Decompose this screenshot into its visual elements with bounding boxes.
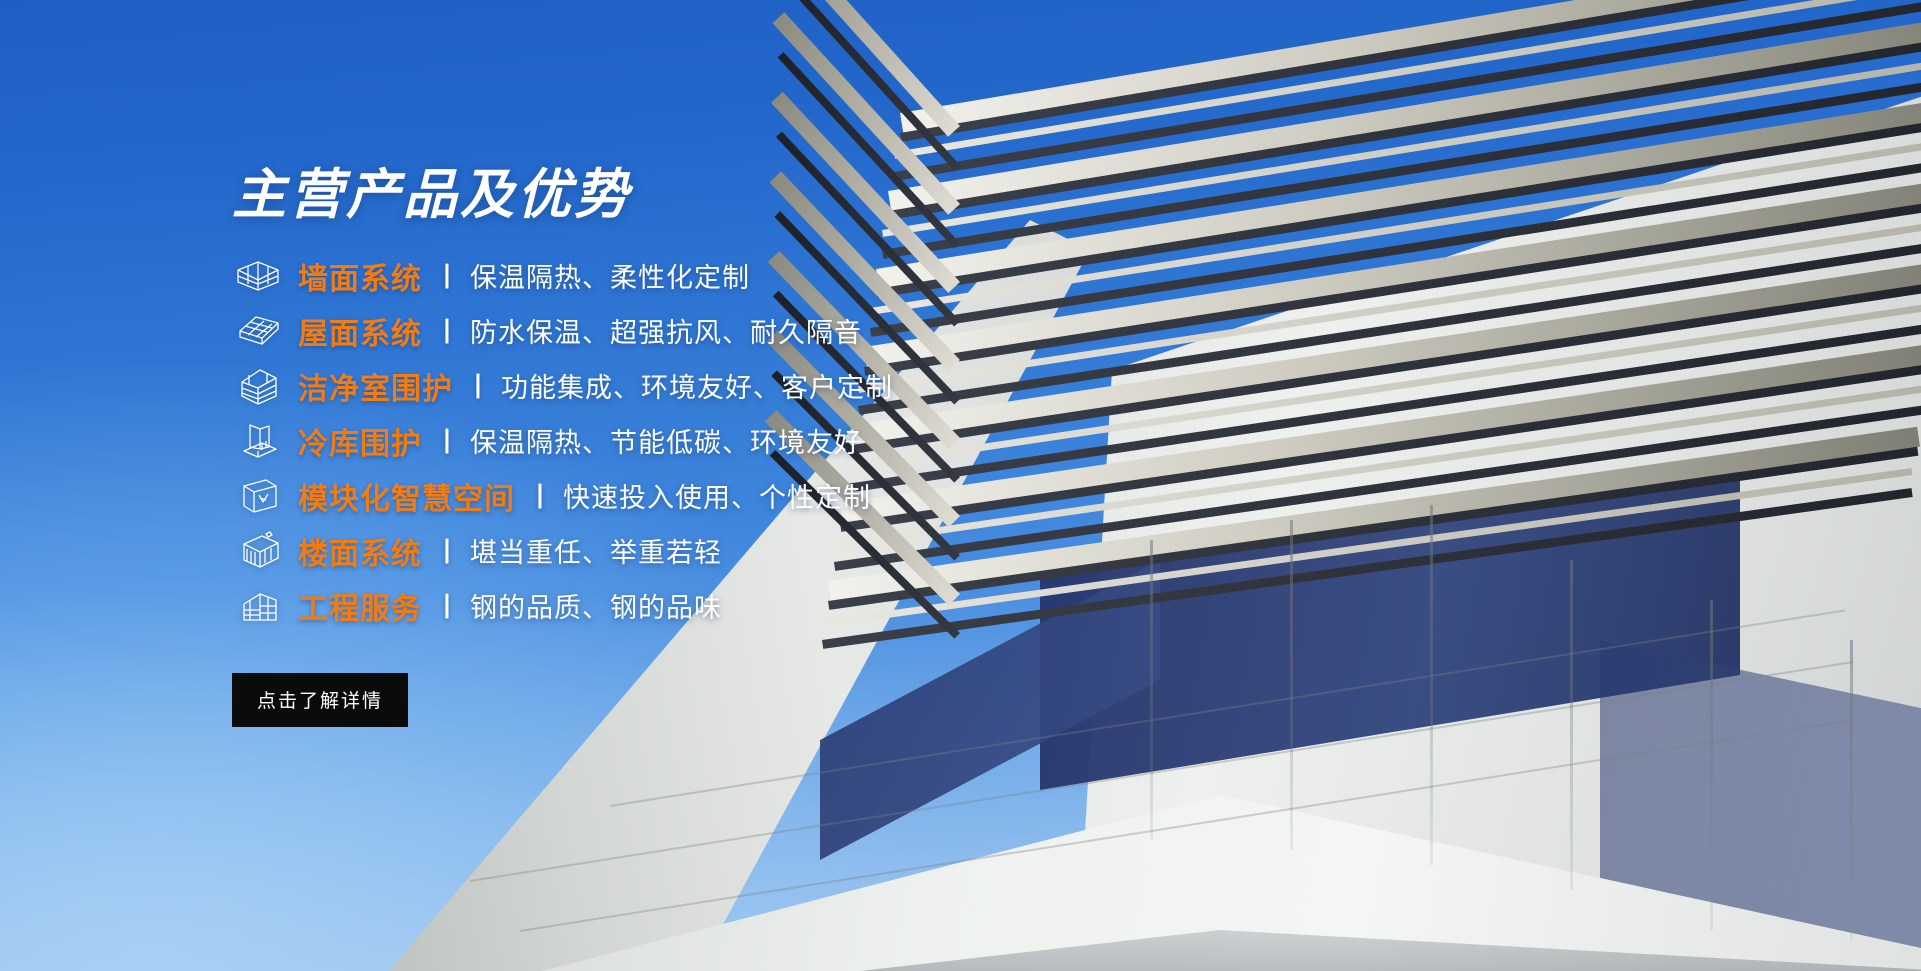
divider: 丨: [434, 257, 460, 294]
wall-panel-icon: [232, 256, 288, 296]
product-description: 钢的品质、钢的品味: [470, 586, 722, 625]
product-row[interactable]: 洁净室围护丨功能集成、环境友好、客户定制: [232, 358, 1100, 413]
product-list: 墙面系统丨保温隔热、柔性化定制屋面系统丨防水保温、超强抗风、耐久隔音洁净室围护丨…: [232, 248, 1100, 633]
product-name: 屋面系统: [298, 309, 422, 353]
product-name: 洁净室围护: [298, 364, 453, 408]
product-description: 堪当重任、举重若轻: [470, 531, 722, 570]
product-row[interactable]: 工程服务丨钢的品质、钢的品味: [232, 578, 1100, 633]
product-row[interactable]: 墙面系统丨保温隔热、柔性化定制: [232, 248, 1100, 303]
cleanroom-icon: [232, 366, 288, 406]
facade-mullion: [1150, 540, 1153, 840]
product-row[interactable]: 冷库围护丨保温隔热、节能低碳、环境友好: [232, 413, 1100, 468]
divider: 丨: [465, 367, 491, 404]
divider: 丨: [527, 477, 553, 514]
product-description: 防水保温、超强抗风、耐久隔音: [470, 311, 862, 350]
divider: 丨: [434, 312, 460, 349]
floor-deck-icon: [232, 531, 288, 571]
learn-more-button[interactable]: 点击了解详情: [232, 673, 408, 727]
product-description: 保温隔热、节能低碳、环境友好: [470, 421, 862, 460]
product-name: 工程服务: [298, 584, 422, 628]
divider: 丨: [434, 532, 460, 569]
product-row[interactable]: 屋面系统丨防水保温、超强抗风、耐久隔音: [232, 303, 1100, 358]
product-name: 模块化智慧空间: [298, 474, 515, 518]
cold-storage-icon: [232, 421, 288, 461]
banner-content: 主营产品及优势 墙面系统丨保温隔热、柔性化定制屋面系统丨防水保温、超强抗风、耐久…: [0, 0, 1100, 971]
facade-mullion: [1710, 600, 1713, 930]
facade-mullion: [1570, 560, 1573, 890]
facade-mullion: [1850, 640, 1853, 940]
product-description: 功能集成、环境友好、客户定制: [501, 366, 893, 405]
divider: 丨: [434, 587, 460, 624]
facade-mullion: [1430, 505, 1433, 865]
roof-panel-icon: [232, 311, 288, 351]
product-description: 快速投入使用、个性定制: [563, 476, 871, 515]
divider: 丨: [434, 422, 460, 459]
page-title: 主营产品及优势: [232, 168, 1100, 222]
engineering-service-icon: [232, 586, 288, 626]
product-name: 冷库围护: [298, 419, 422, 463]
product-name: 楼面系统: [298, 529, 422, 573]
modular-space-icon: [232, 476, 288, 516]
facade-mullion: [1290, 520, 1293, 850]
product-row[interactable]: 模块化智慧空间丨快速投入使用、个性定制: [232, 468, 1100, 523]
product-advantage-banner: 主营产品及优势 墙面系统丨保温隔热、柔性化定制屋面系统丨防水保温、超强抗风、耐久…: [0, 0, 1921, 971]
product-row[interactable]: 楼面系统丨堪当重任、举重若轻: [232, 523, 1100, 578]
product-description: 保温隔热、柔性化定制: [470, 256, 750, 295]
product-name: 墙面系统: [298, 254, 422, 298]
